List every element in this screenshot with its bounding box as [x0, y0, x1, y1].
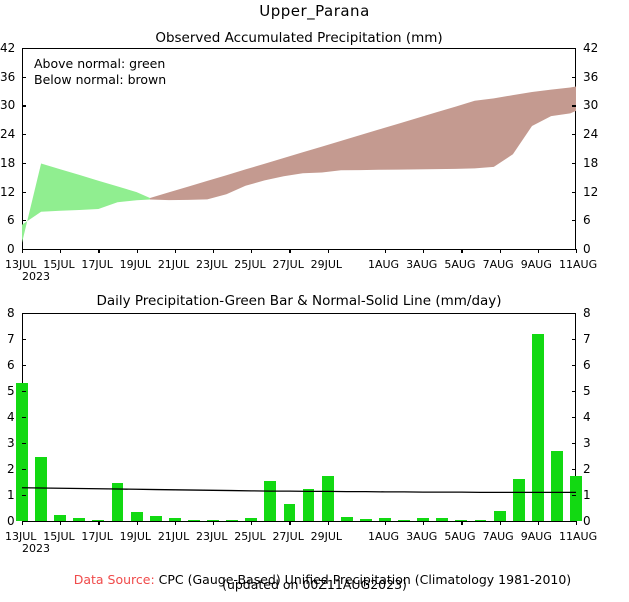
- xlabel-17jul: 17JUL: [81, 530, 112, 543]
- xtick-3aug: [423, 521, 424, 525]
- bottom-ytick-2: [22, 469, 26, 470]
- bottom-ylabel-6: 6: [583, 358, 591, 372]
- xlabel-7aug: 7AUG: [483, 530, 514, 543]
- xtick-17jul: [98, 521, 99, 525]
- bottom-ylabel-1: 1: [7, 488, 15, 502]
- xlabel-29jul: 29JUL: [311, 530, 342, 543]
- bottom-ylabel-4: 4: [583, 410, 591, 424]
- xlabel-5aug: 5AUG: [444, 530, 475, 543]
- xlabel-27jul: 27JUL: [272, 530, 303, 543]
- bottom-ytick-5: [572, 391, 576, 392]
- bottom-ylabel-7: 7: [583, 332, 591, 346]
- bottom-ylabel-5: 5: [583, 384, 591, 398]
- bottom-ylabel-6: 6: [7, 358, 15, 372]
- bottom-ylabel-2: 2: [583, 462, 591, 476]
- chart-page: Upper_Parana Observed Accumulated Precip…: [0, 0, 629, 597]
- bottom-ylabel-8: 8: [583, 306, 591, 320]
- xtick-23jul: [213, 521, 214, 525]
- xtick-27jul: [289, 521, 290, 525]
- bottom-ytick-7: [572, 339, 576, 340]
- bottom-ytick-8: [22, 313, 26, 314]
- xtick-13jul: [22, 521, 23, 525]
- bottom-ylabel-8: 8: [7, 306, 15, 320]
- xlabel-3aug: 3AUG: [406, 530, 437, 543]
- footer-updated: (updated on 00Z11AUG2023): [0, 577, 629, 592]
- year-label-bottom: 2023: [22, 542, 50, 555]
- xtick-19jul: [137, 521, 138, 525]
- bottom-ytick-6: [572, 365, 576, 366]
- xtick-21jul: [175, 521, 176, 525]
- xlabel-23jul: 23JUL: [196, 530, 227, 543]
- bottom-ytick-3: [22, 443, 26, 444]
- xtick-1aug: [385, 521, 386, 525]
- bottom-ytick-6: [22, 365, 26, 366]
- xtick-9aug: [538, 521, 539, 525]
- xlabel-9aug: 9AUG: [521, 530, 552, 543]
- bottom-ytick-1: [572, 495, 576, 496]
- bottom-ylabel-7: 7: [7, 332, 15, 346]
- xlabel-25jul: 25JUL: [234, 530, 265, 543]
- normal-solid-line: [22, 488, 576, 493]
- normal-line-plot: [0, 0, 629, 597]
- bottom-ytick-1: [22, 495, 26, 496]
- bottom-ylabel-4: 4: [7, 410, 15, 424]
- xtick-5aug: [461, 521, 462, 525]
- bottom-ytick-4: [572, 417, 576, 418]
- bottom-ytick-5: [22, 391, 26, 392]
- bottom-ylabel-3: 3: [583, 436, 591, 450]
- bottom-ylabel-2: 2: [7, 462, 15, 476]
- xtick-25jul: [251, 521, 252, 525]
- xtick-29jul: [328, 521, 329, 525]
- bottom-ytick-3: [572, 443, 576, 444]
- xlabel-19jul: 19JUL: [120, 530, 151, 543]
- xlabel-21jul: 21JUL: [158, 530, 189, 543]
- bottom-ytick-4: [22, 417, 26, 418]
- bottom-ytick-2: [572, 469, 576, 470]
- xtick-7aug: [500, 521, 501, 525]
- bottom-ylabel-5: 5: [7, 384, 15, 398]
- xlabel-11aug: 11AUG: [559, 530, 597, 543]
- bottom-ylabel-0: 0: [7, 514, 15, 528]
- bottom-ylabel-0: 0: [583, 514, 591, 528]
- xtick-11aug: [576, 521, 577, 525]
- xtick-15jul: [60, 521, 61, 525]
- xlabel-1aug: 1AUG: [368, 530, 399, 543]
- bottom-ytick-7: [22, 339, 26, 340]
- bottom-ylabel-1: 1: [583, 488, 591, 502]
- bottom-ytick-8: [572, 313, 576, 314]
- bottom-ylabel-3: 3: [7, 436, 15, 450]
